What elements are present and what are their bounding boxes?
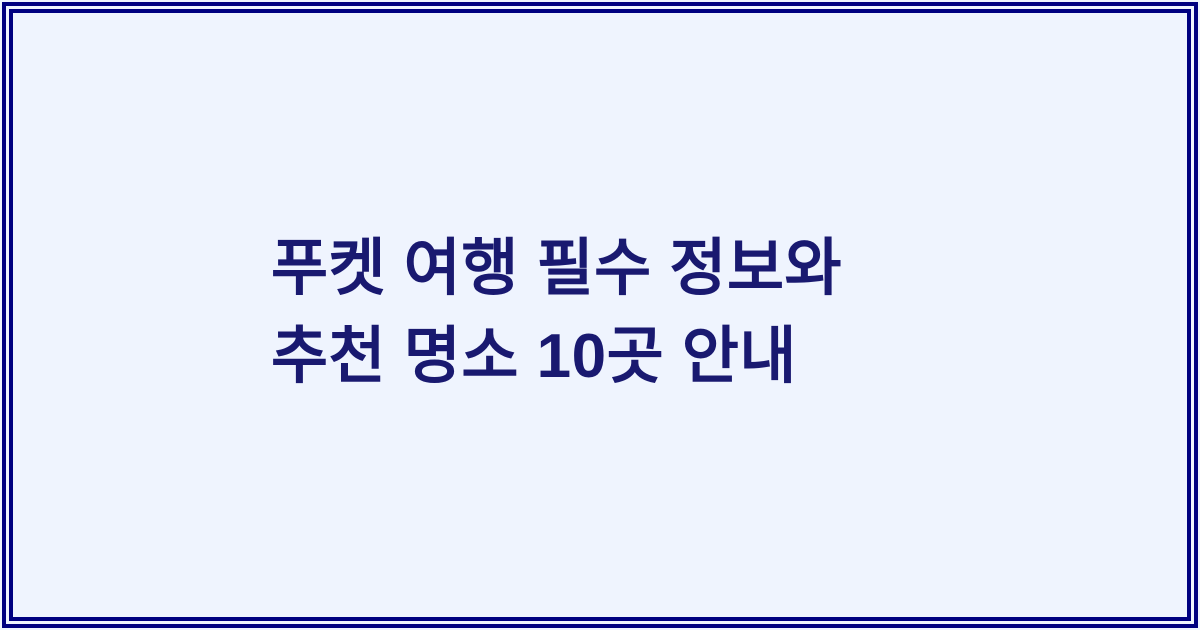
outer-border-frame: 푸켓 여행 필수 정보와 추천 명소 10곳 안내 (2, 2, 1198, 628)
title-line-2: 추천 명소 10곳 안내 (271, 313, 1147, 401)
thumbnail-card: 푸켓 여행 필수 정보와 추천 명소 10곳 안내 (0, 0, 1200, 630)
inner-border-frame: 푸켓 여행 필수 정보와 추천 명소 10곳 안내 (9, 9, 1191, 621)
page-title: 푸켓 여행 필수 정보와 추천 명소 10곳 안내 (13, 225, 1187, 401)
title-line-1: 푸켓 여행 필수 정보와 (271, 225, 1147, 313)
